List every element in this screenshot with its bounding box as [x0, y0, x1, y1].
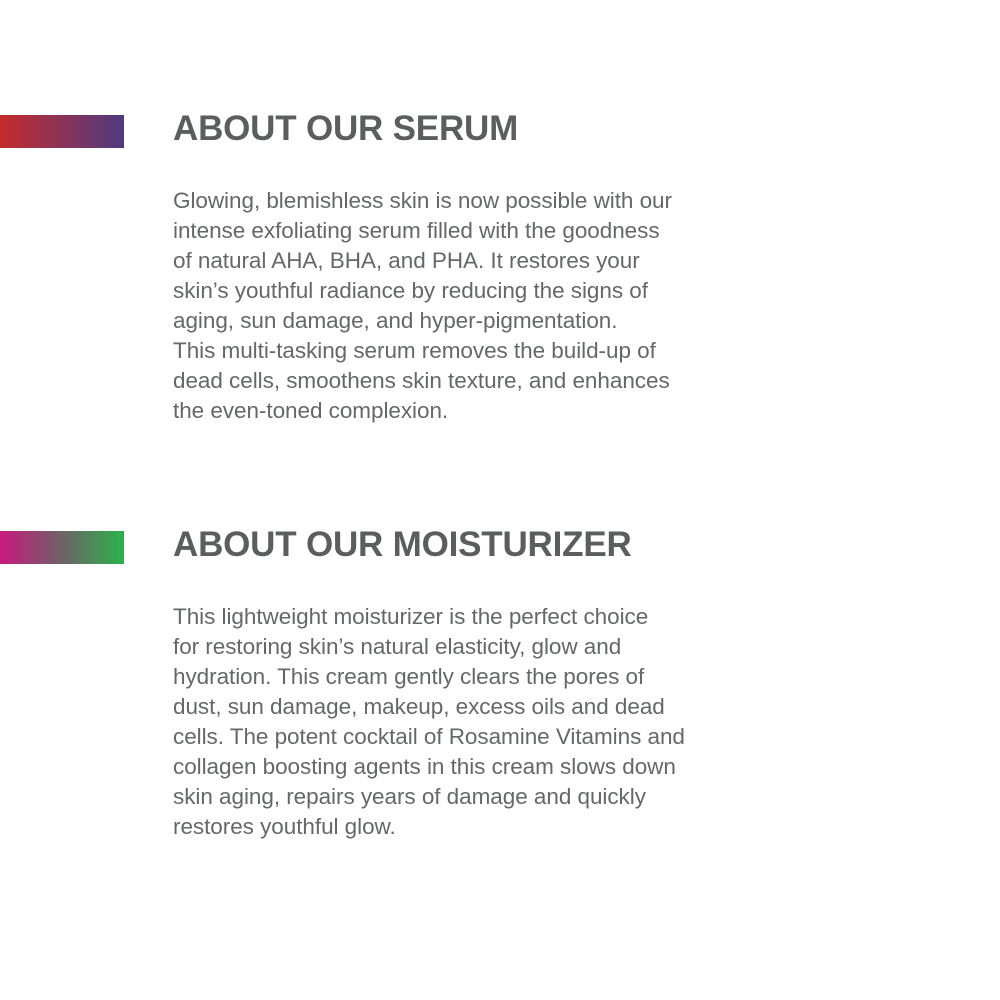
body-about-serum: Glowing, blemishless skin is now possibl…	[173, 186, 773, 426]
body-line: dead cells, smoothens skin texture, and …	[173, 366, 773, 396]
body-line: intense exfoliating serum filled with th…	[173, 216, 773, 246]
body-line: collagen boosting agents in this cream s…	[173, 752, 793, 782]
serum-text-column: ABOUT OUR SERUM Glowing, blemishless ski…	[173, 108, 813, 426]
body-line: cells. The potent cocktail of Rosamine V…	[173, 722, 793, 752]
body-line: hydration. This cream gently clears the …	[173, 662, 793, 692]
body-line: for restoring skin’s natural elasticity,…	[173, 632, 793, 662]
body-line: This multi-tasking serum removes the bui…	[173, 336, 773, 366]
body-line: dust, sun damage, makeup, excess oils an…	[173, 692, 793, 722]
product-info-page: ABOUT OUR SERUM Glowing, blemishless ski…	[0, 0, 1000, 1000]
heading-about-moisturizer: ABOUT OUR MOISTURIZER	[173, 524, 813, 566]
heading-about-serum: ABOUT OUR SERUM	[173, 108, 813, 150]
body-line: skin aging, repairs years of damage and …	[173, 782, 793, 812]
body-line: This lightweight moisturizer is the perf…	[173, 602, 793, 632]
gradient-bar-magenta-green-icon	[0, 531, 124, 564]
body-line: restores youthful glow.	[173, 812, 793, 842]
body-line: the even-toned complexion.	[173, 396, 773, 426]
body-line: aging, sun damage, and hyper-pigmentatio…	[173, 306, 773, 336]
moisturizer-text-column: ABOUT OUR MOISTURIZER This lightweight m…	[173, 524, 813, 842]
gradient-bar-red-purple-icon	[0, 115, 124, 148]
body-line: skin’s youthful radiance by reducing the…	[173, 276, 773, 306]
body-about-moisturizer: This lightweight moisturizer is the perf…	[173, 602, 793, 842]
body-line: Glowing, blemishless skin is now possibl…	[173, 186, 773, 216]
body-line: of natural AHA, BHA, and PHA. It restore…	[173, 246, 773, 276]
